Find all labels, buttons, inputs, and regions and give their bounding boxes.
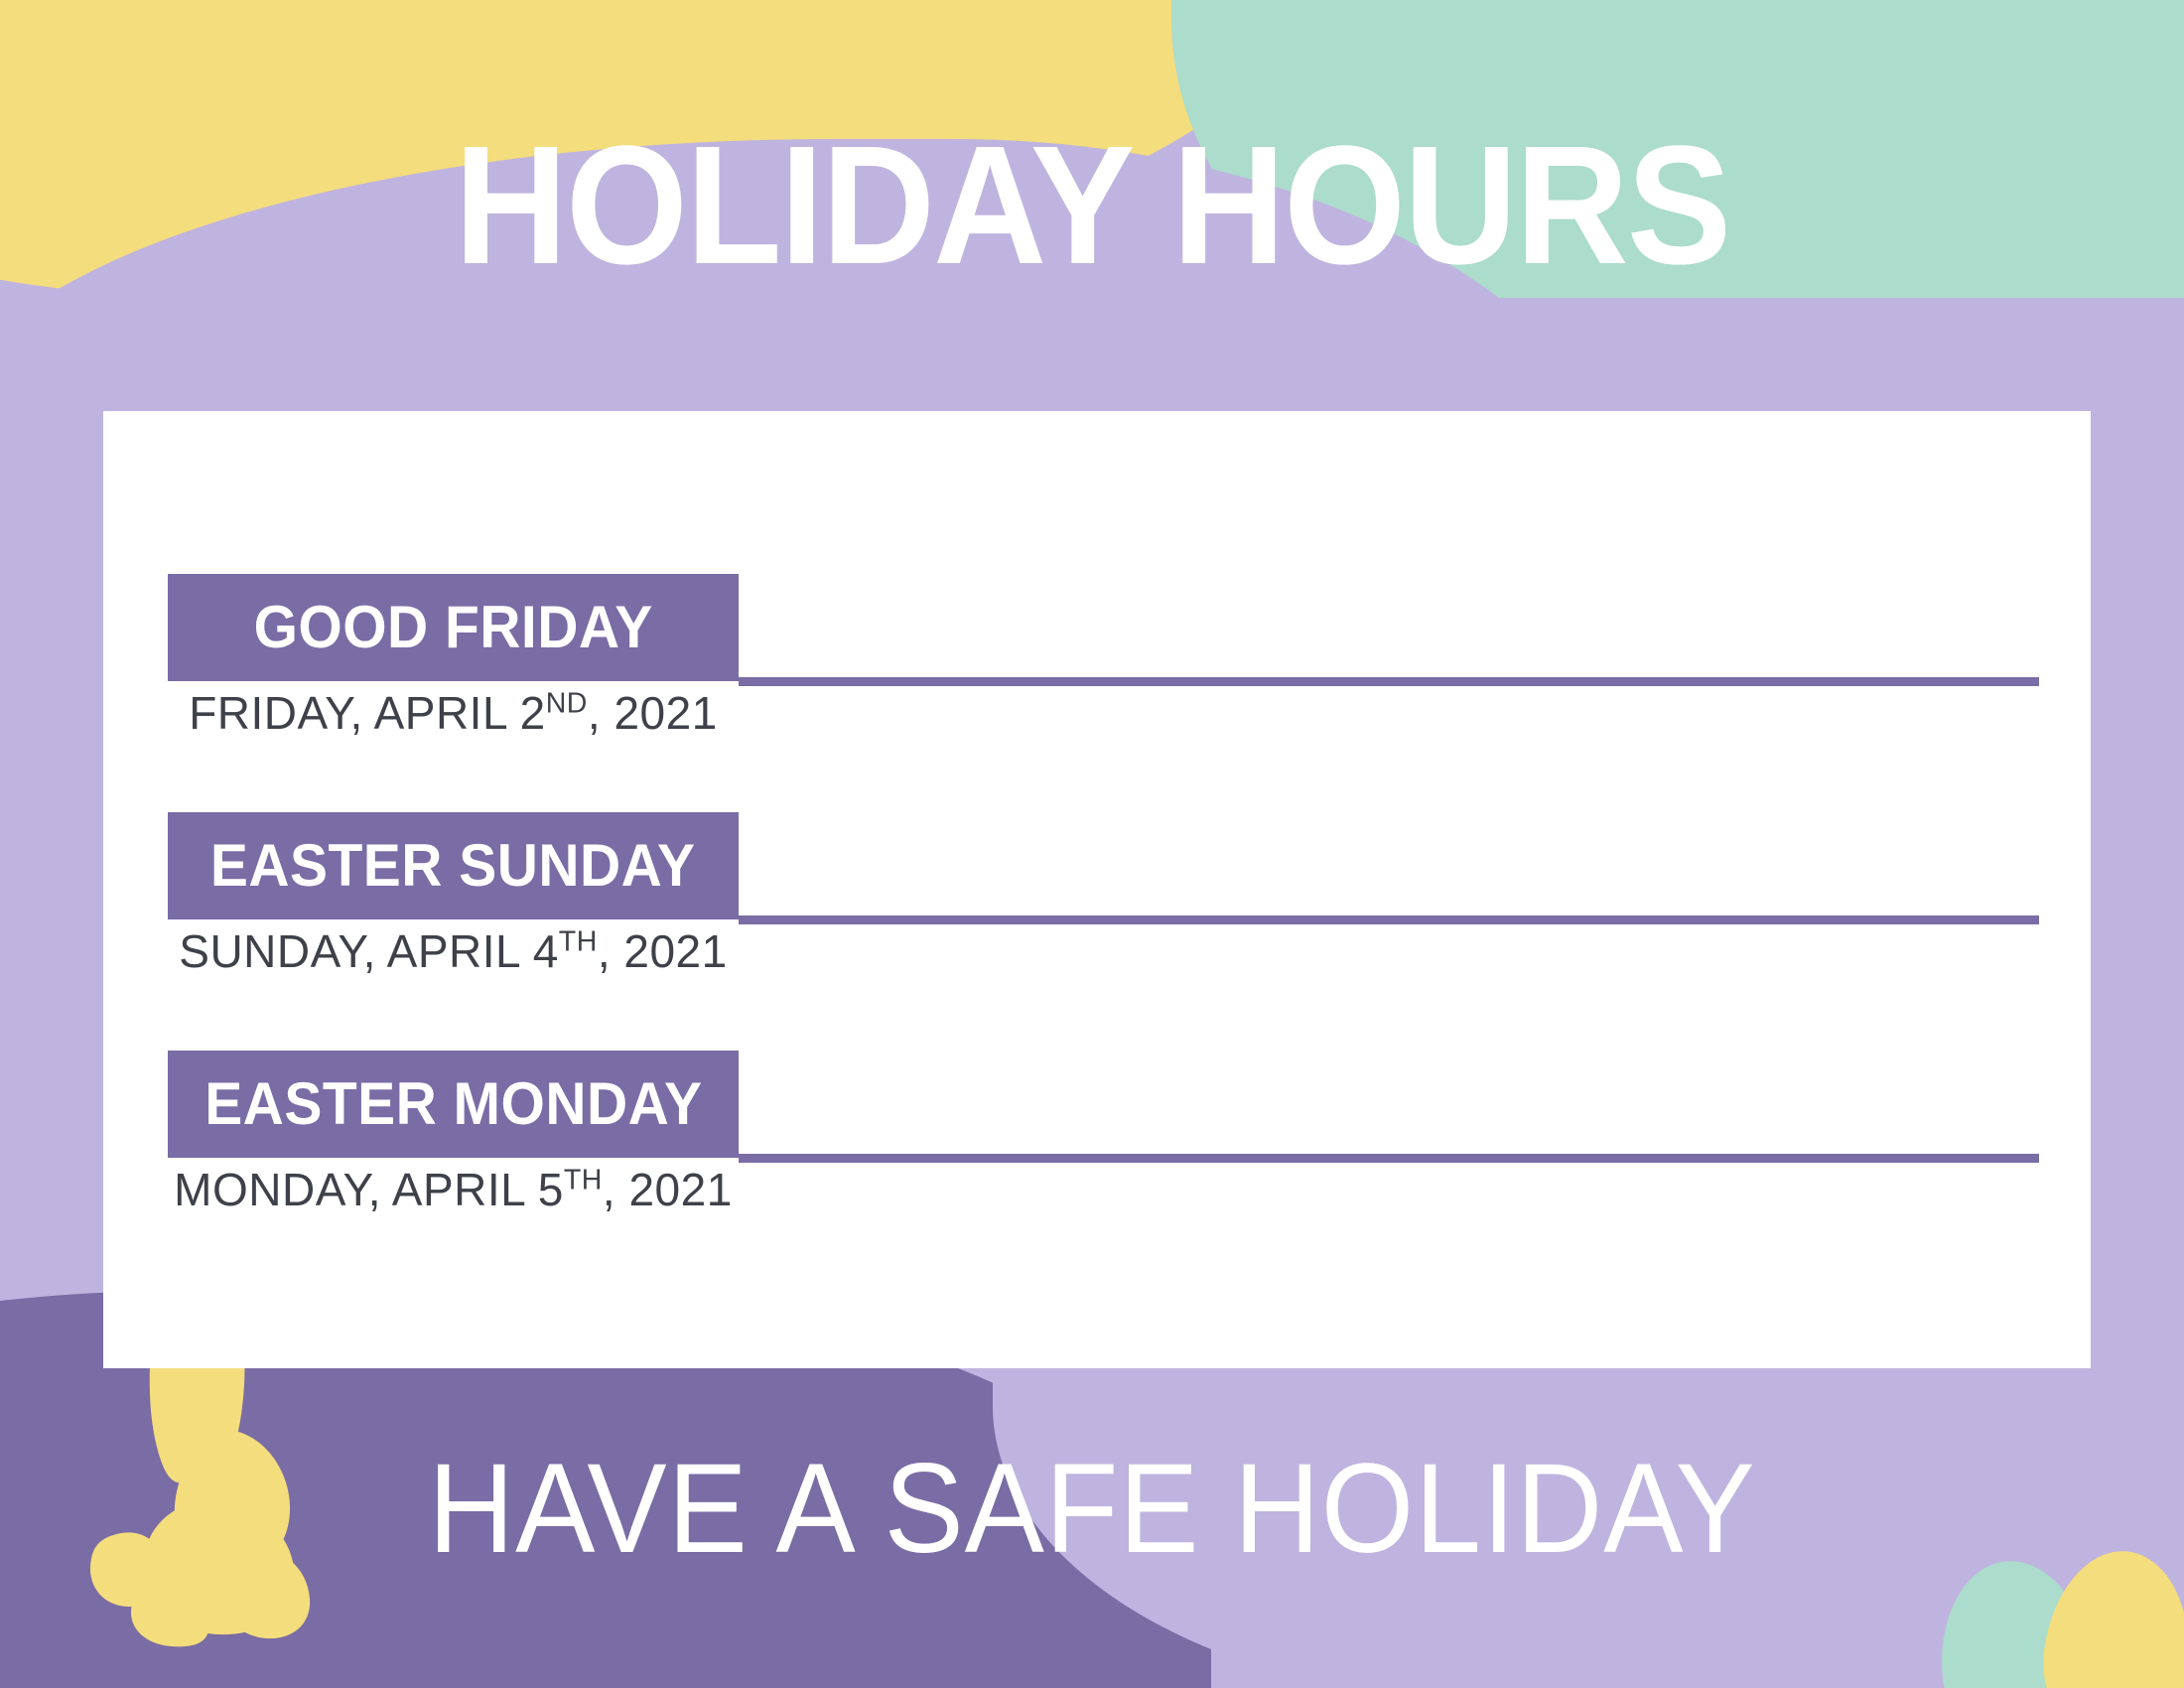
- page-title: HOLIDAY HOURS: [76, 121, 2108, 290]
- holiday-hours-poster: HOLIDAY HOURS GOOD FRIDAY FRIDAY, APRIL: [0, 0, 2184, 1688]
- holiday-date-day: 4: [533, 925, 559, 977]
- holiday-date-month: APRIL: [392, 1164, 525, 1215]
- holiday-date-year: , 2021: [598, 925, 728, 977]
- holiday-name-label: GOOD FRIDAY: [253, 574, 652, 681]
- holiday-date: SUNDAY, APRIL 4TH, 2021: [168, 923, 739, 979]
- holiday-name-chip: EASTER MONDAY: [168, 1051, 739, 1158]
- holiday-date: FRIDAY, APRIL 2ND, 2021: [168, 685, 739, 741]
- holiday-date-ordinal: TH: [559, 926, 598, 958]
- hours-write-in-line[interactable]: [739, 1154, 2039, 1163]
- holiday-date-day: 5: [538, 1164, 564, 1215]
- holiday-date-year: , 2021: [588, 687, 718, 739]
- holiday-date-day: 2: [520, 687, 546, 739]
- schedule-card: GOOD FRIDAY FRIDAY, APRIL 2ND, 2021 EAST…: [103, 411, 2091, 1368]
- holiday-name-label: EASTER SUNDAY: [210, 812, 696, 919]
- holiday-date-weekday: FRIDAY,: [189, 687, 363, 739]
- holiday-date-year: , 2021: [603, 1164, 733, 1215]
- holiday-date-weekday: SUNDAY,: [179, 925, 376, 977]
- holiday-name-chip: EASTER SUNDAY: [168, 812, 739, 919]
- holiday-date: MONDAY, APRIL 5TH, 2021: [168, 1162, 739, 1217]
- hours-write-in-line[interactable]: [739, 677, 2039, 686]
- holiday-date-weekday: MONDAY,: [174, 1164, 381, 1215]
- holiday-date-month: APRIL: [374, 687, 507, 739]
- holiday-name-label: EASTER MONDAY: [205, 1051, 702, 1158]
- holiday-name-chip: GOOD FRIDAY: [168, 574, 739, 681]
- footer-message: HAVE A SAFE HOLIDAY: [66, 1446, 2118, 1573]
- holiday-date-ordinal: ND: [546, 688, 588, 720]
- holiday-date-ordinal: TH: [564, 1165, 603, 1196]
- holiday-date-month: APRIL: [387, 925, 520, 977]
- hours-write-in-line[interactable]: [739, 915, 2039, 924]
